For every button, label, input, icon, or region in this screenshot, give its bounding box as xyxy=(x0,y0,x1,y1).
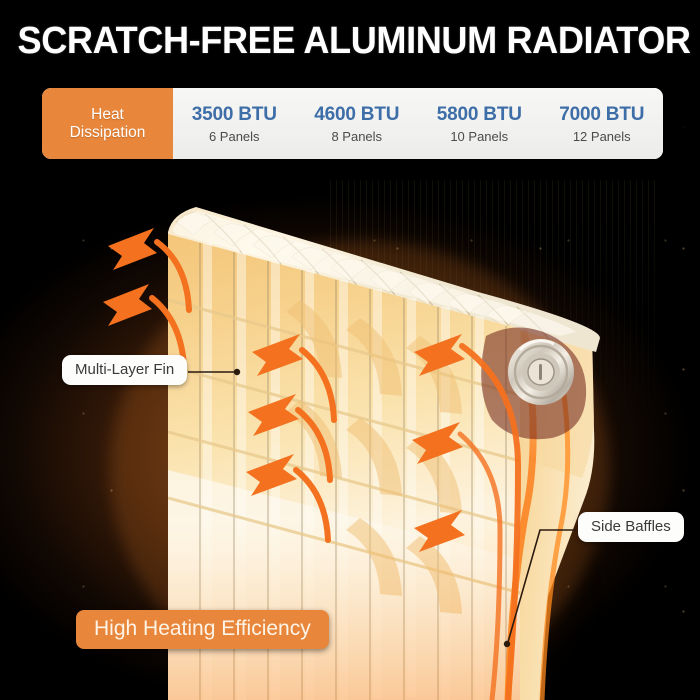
radiator-illustration xyxy=(0,0,700,700)
product-infographic: SCRATCH-FREE ALUMINUM RADIATOR Heat Diss… xyxy=(0,0,700,700)
callout-high-heating-efficiency: High Heating Efficiency xyxy=(76,610,329,649)
callout-side-baffles: Side Baffles xyxy=(578,512,684,542)
callout-multi-layer-fin: Multi-Layer Fin xyxy=(62,355,187,385)
